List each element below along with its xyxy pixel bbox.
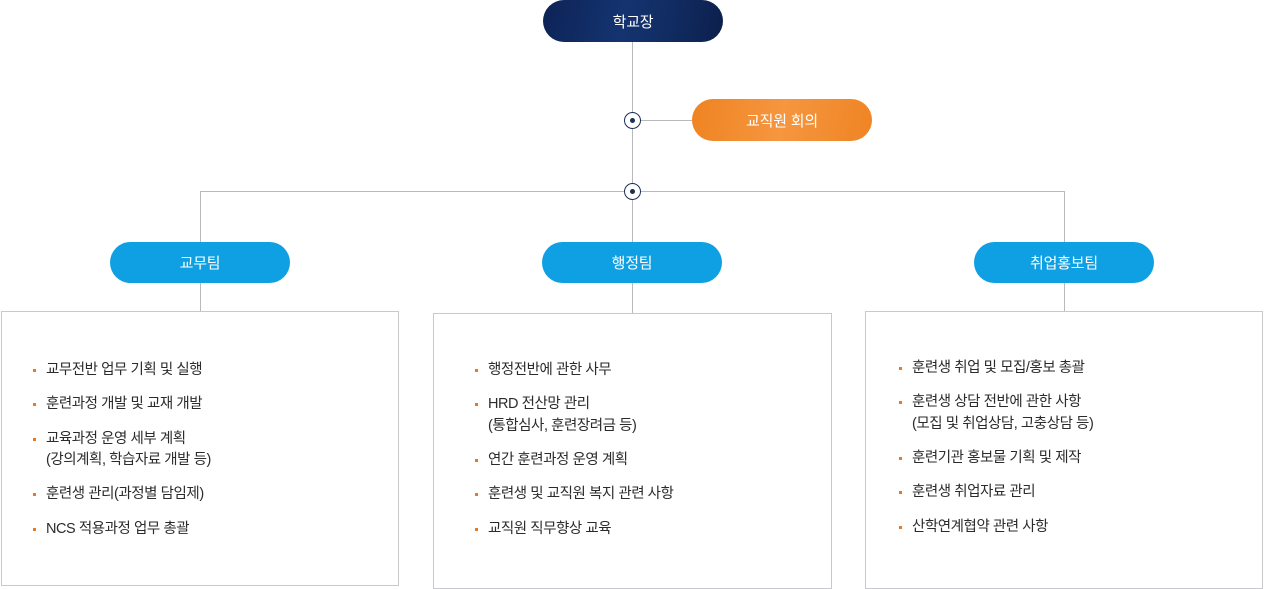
connector-branch-to-team-3 — [1064, 191, 1065, 242]
duty-item: 교직원 직무향상 교육 — [468, 519, 817, 540]
panel-employment-pr: 훈련생 취업 및 모집/홍보 총괄훈련생 상담 전반에 관한 사항 (모집 및 … — [865, 311, 1263, 589]
connector-branch-to-team-2 — [632, 199, 633, 242]
duty-item: 훈련생 및 교직원 복지 관련 사항 — [468, 484, 817, 505]
duty-item: 행정전반에 관한 사무 — [468, 360, 817, 381]
duty-list-employment-pr: 훈련생 취업 및 모집/홍보 총괄훈련생 상담 전반에 관한 사항 (모집 및 … — [866, 312, 1262, 551]
duty-item: 훈련생 상담 전반에 관한 사항 (모집 및 취업상담, 고충상담 등) — [892, 392, 1248, 435]
duty-item: 훈련기관 홍보물 기획 및 제작 — [892, 448, 1248, 469]
duty-item: 훈련생 관리(과정별 담임제) — [26, 484, 384, 505]
node-team-employment-pr[interactable]: 취업홍보팀 — [974, 242, 1154, 283]
duty-list-academic-affairs: 교무전반 업무 기획 및 실행훈련과정 개발 및 교재 개발교육과정 운영 세부… — [2, 312, 398, 553]
duty-item: 연간 훈련과정 운영 계획 — [468, 450, 817, 471]
node-team-academic-affairs-label: 교무팀 — [180, 252, 221, 273]
node-team-employment-pr-label: 취업홍보팀 — [1030, 252, 1098, 273]
junction-node-council — [624, 112, 641, 129]
duty-item: 훈련과정 개발 및 교재 개발 — [26, 394, 384, 415]
node-team-administration[interactable]: 행정팀 — [542, 242, 722, 283]
connector-root-to-council-junction — [632, 41, 633, 114]
node-principal[interactable]: 학교장 — [543, 0, 723, 42]
connector-team-2-to-panel — [632, 283, 633, 313]
duty-item: HRD 전산망 관리 (통합심사, 훈련장려금 등) — [468, 394, 817, 437]
connector-team-3-to-panel — [1064, 283, 1065, 313]
connector-council-horizontal — [640, 120, 694, 121]
duty-item: NCS 적용과정 업무 총괄 — [26, 519, 384, 540]
duty-item: 훈련생 취업 및 모집/홍보 총괄 — [892, 358, 1248, 379]
node-staff-council[interactable]: 교직원 회의 — [692, 99, 872, 141]
connector-branch-to-team-1 — [200, 191, 201, 242]
panel-academic-affairs: 교무전반 업무 기획 및 실행훈련과정 개발 및 교재 개발교육과정 운영 세부… — [1, 311, 399, 586]
duty-list-administration: 행정전반에 관한 사무HRD 전산망 관리 (통합심사, 훈련장려금 등)연간 … — [434, 314, 831, 553]
organization-chart: 학교장 교직원 회의 교무팀 행정팀 취업홍보팀 교무전반 업무 기획 및 실행… — [0, 0, 1265, 589]
duty-item: 교육과정 운영 세부 계획 (강의계획, 학습자료 개발 등) — [26, 429, 384, 472]
node-team-academic-affairs[interactable]: 교무팀 — [110, 242, 290, 283]
junction-node-branch — [624, 183, 641, 200]
node-principal-label: 학교장 — [613, 11, 654, 32]
duty-item: 교무전반 업무 기획 및 실행 — [26, 360, 384, 381]
duty-item: 훈련생 취업자료 관리 — [892, 482, 1248, 503]
connector-team-1-to-panel — [200, 283, 201, 313]
connector-council-junction-to-branch-junction — [632, 128, 633, 183]
panel-administration: 행정전반에 관한 사무HRD 전산망 관리 (통합심사, 훈련장려금 등)연간 … — [433, 313, 832, 589]
node-team-administration-label: 행정팀 — [612, 252, 653, 273]
node-staff-council-label: 교직원 회의 — [746, 110, 818, 131]
duty-item: 산학연계협약 관련 사항 — [892, 517, 1248, 538]
